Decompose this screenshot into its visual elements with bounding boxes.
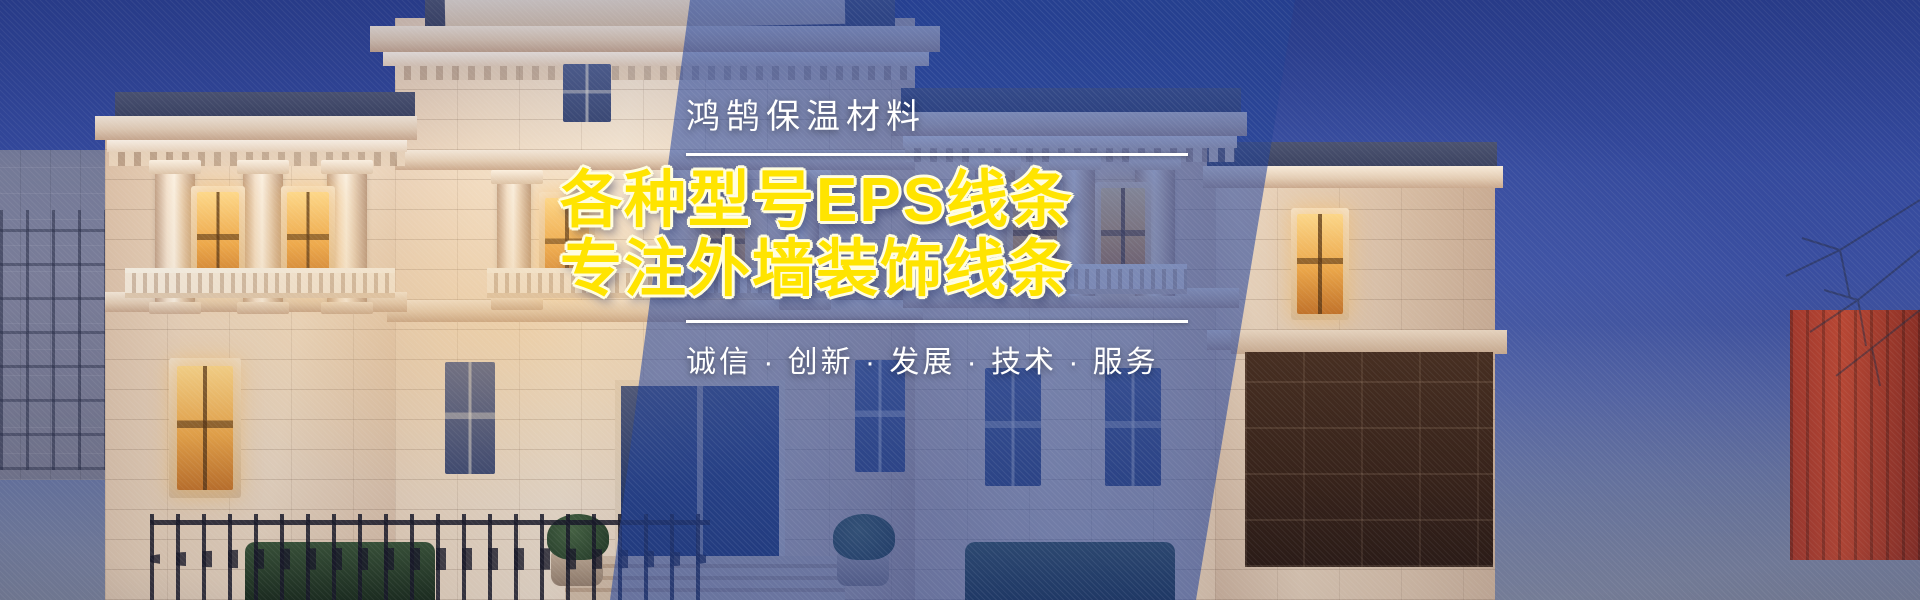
hedge [965,542,1175,600]
headline-line-2: 专注外墙装饰线条 [556,235,1196,304]
cornice [1203,166,1503,188]
cornice [383,52,929,66]
cornice [107,140,407,152]
promotional-banner: 鸿鹄保温材料 各种型号EPS线条 专注外墙装饰线条 诚信 · 创新 · 发展 ·… [0,0,1920,600]
dark-window [1105,368,1161,486]
balustrade [125,268,395,298]
divider-top [686,153,1188,156]
left-roof [115,92,415,118]
dentil-row [395,66,915,80]
divider-bottom [686,320,1188,323]
tree-branches-icon [1690,180,1920,410]
dark-window [445,362,495,474]
cornice [95,116,417,140]
headline-line-1: 各种型号EPS线条 [556,166,1196,235]
dark-window [985,368,1041,486]
lit-window [1297,214,1343,314]
far-right-roof [1207,142,1497,168]
garage-door [1245,352,1493,567]
brand-name: 鸿鹄保温材料 [556,96,1196,139]
iron-railing [150,514,710,600]
banner-copy: 鸿鹄保温材料 各种型号EPS线条 专注外墙装饰线条 诚信 · 创新 · 发展 ·… [556,96,1196,381]
garage-lintel [1231,330,1507,354]
shrub [833,514,895,560]
cornice [370,26,940,52]
lit-window [177,366,233,490]
tagline: 诚信 · 创新 · 发展 · 技术 · 服务 [556,337,1196,381]
